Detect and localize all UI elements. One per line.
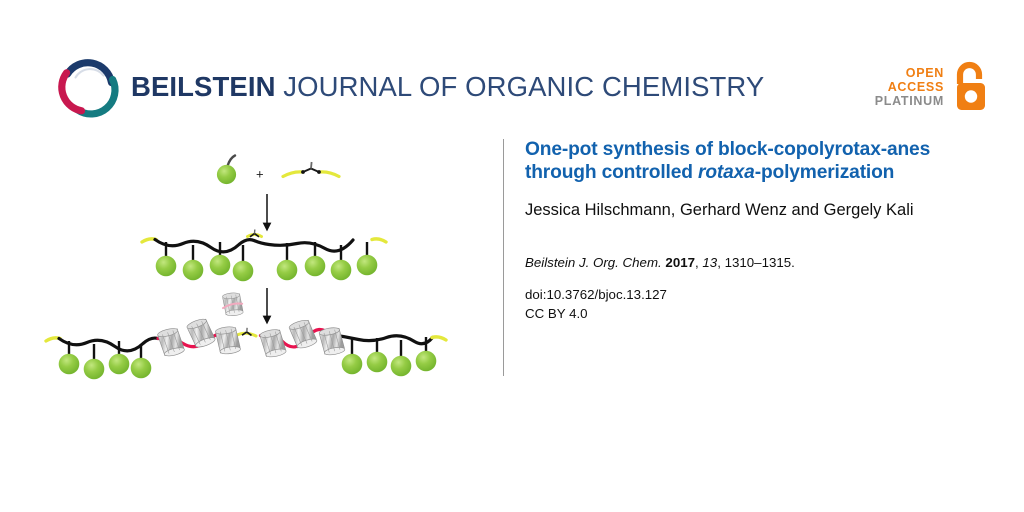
citation-year: 2017 — [665, 255, 695, 270]
article-license[interactable]: CC BY 4.0 — [525, 305, 985, 324]
article-title-part2: -polymerization — [755, 162, 895, 183]
oa-line-open: OPEN — [875, 66, 944, 80]
article-authors: Jessica Hilschmann, Gerhard Wenz and Ger… — [525, 200, 985, 222]
wordmark-beilstein: BEILSTEIN — [131, 71, 276, 102]
cyclodextrin-ring-icon — [222, 292, 244, 317]
graphical-abstract: + — [34, 132, 494, 392]
open-access-badge: OPEN ACCESS PLATINUM — [875, 57, 991, 117]
oa-line-access: ACCESS — [875, 80, 944, 94]
column-divider — [503, 139, 504, 376]
wordmark-subtitle: JOURNAL OF ORGANIC CHEMISTRY — [276, 71, 765, 102]
article-doi[interactable]: doi:10.3762/bjoc.13.127 — [525, 286, 985, 305]
homopolymer-row — [142, 230, 386, 282]
beilstein-swirl-logo-icon — [55, 53, 121, 119]
journal-wordmark: BEILSTEIN JOURNAL OF ORGANIC CHEMISTRY — [131, 71, 764, 103]
article-title-italic: rotaxa — [698, 162, 755, 183]
svg-text:+: + — [256, 167, 264, 182]
citation-pages: 1310–1315. — [725, 255, 795, 270]
article-title: One-pot synthesis of block-copolyrotax-a… — [525, 138, 985, 185]
oa-line-platinum: PLATINUM — [875, 94, 944, 108]
block-copolyrotaxane-row — [46, 317, 446, 380]
monomer-row: + — [217, 156, 339, 185]
citation-journal: Beilstein J. Org. Chem. — [525, 255, 662, 270]
masthead: BEILSTEIN JOURNAL OF ORGANIC CHEMISTRY O… — [0, 0, 1024, 132]
article-meta: One-pot synthesis of block-copolyrotax-a… — [525, 138, 985, 324]
citation-volume: 13 — [702, 255, 717, 270]
article-citation: Beilstein J. Org. Chem. 2017, 13, 1310–1… — [525, 253, 985, 272]
open-padlock-icon — [951, 61, 991, 113]
open-access-label: OPEN ACCESS PLATINUM — [875, 66, 944, 108]
